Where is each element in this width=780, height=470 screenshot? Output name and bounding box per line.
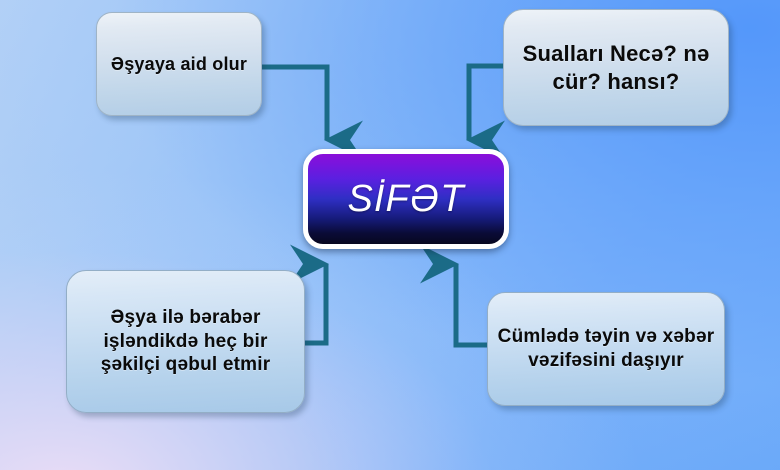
connector-top-left-to-center — [262, 67, 327, 140]
node-bottom-left-label: Əşya ilə bərabər işləndikdə heç bir şəki… — [67, 306, 304, 377]
node-bottom-right[interactable]: Cümlədə təyin və xəbər vəzifəsini daşıyı… — [487, 292, 725, 406]
node-center-sifet[interactable]: SİFƏT — [303, 149, 509, 249]
node-top-right-label: Sualları Necə? nə cür? hansı? — [504, 40, 728, 95]
node-bottom-left[interactable]: Əşya ilə bərabər işləndikdə heç bir şəki… — [66, 270, 305, 413]
node-center-label: SİFƏT — [348, 180, 465, 218]
node-top-left[interactable]: Əşyaya aid olur — [96, 12, 262, 116]
connector-bottom-right-to-center — [456, 264, 487, 345]
node-top-left-label: Əşyaya aid olur — [103, 53, 255, 75]
node-top-right[interactable]: Sualları Necə? nə cür? hansı? — [503, 9, 729, 126]
connector-top-right-to-center — [469, 66, 503, 140]
connector-bottom-left-to-center — [305, 264, 326, 343]
node-bottom-right-label: Cümlədə təyin və xəbər vəzifəsini daşıyı… — [488, 325, 724, 372]
slide-canvas: Əşyaya aid olur Sualları Necə? nə cür? h… — [0, 0, 780, 470]
